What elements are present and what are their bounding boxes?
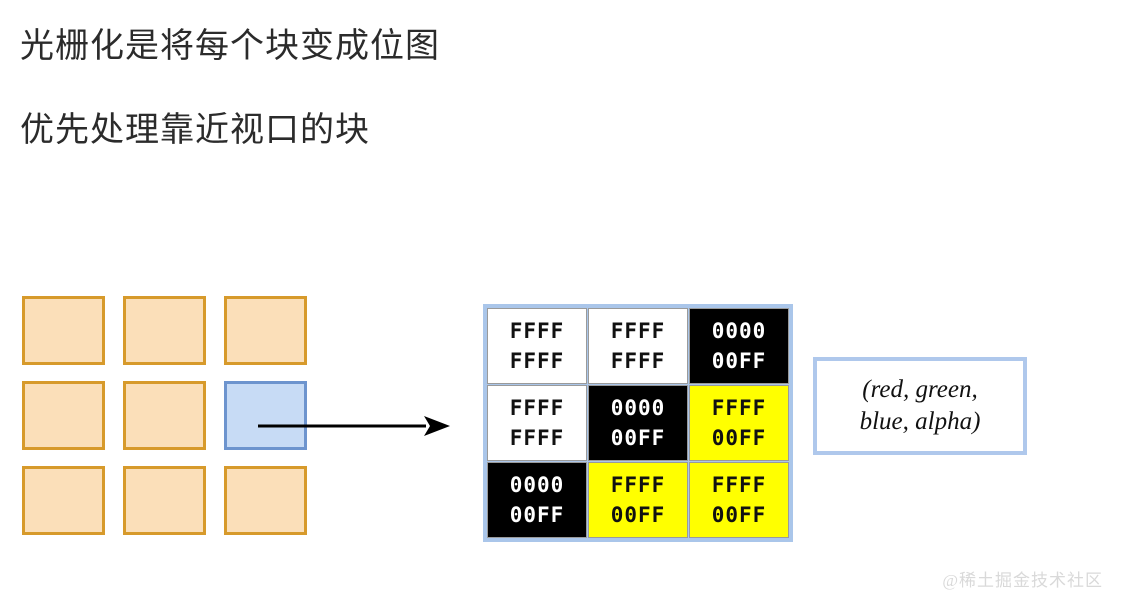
rgba-legend-text: (red, green, blue, alpha) <box>860 374 981 438</box>
pixel-value-top: FFFF <box>611 316 666 346</box>
pixel-cell-r2c2: 000000FF <box>588 385 688 461</box>
tile-r3c1[interactable] <box>22 466 105 535</box>
pixel-value-top: FFFF <box>712 393 767 423</box>
pixel-value-bottom: 00FF <box>510 500 565 530</box>
pixel-value-top: 0000 <box>611 393 666 423</box>
pixel-cell-r2c3: FFFF00FF <box>689 385 789 461</box>
tile-r3c2[interactable] <box>123 466 206 535</box>
page-title: 光栅化是将每个块变成位图 优先处理靠近视口的块 <box>20 28 720 148</box>
pixel-value-bottom: 00FF <box>712 423 767 453</box>
pixel-value-bottom: 00FF <box>712 500 767 530</box>
tile-r1c2[interactable] <box>123 296 206 365</box>
pixel-cell-r3c1: 000000FF <box>487 462 587 538</box>
title-line-1: 光栅化是将每个块变成位图 <box>20 28 720 64</box>
pixel-cell-r1c2: FFFFFFFF <box>588 308 688 384</box>
tile-r1c3[interactable] <box>224 296 307 365</box>
tile-r2c2[interactable] <box>123 381 206 450</box>
tile-r3c3[interactable] <box>224 466 307 535</box>
arrow-to-bitmap <box>258 412 450 440</box>
pixel-value-bottom: FFFF <box>510 346 565 376</box>
pixel-value-bottom: 00FF <box>611 423 666 453</box>
bitmap-pixel-grid: FFFFFFFFFFFFFFFF000000FFFFFFFFFF000000FF… <box>483 304 793 542</box>
pixel-value-top: FFFF <box>510 393 565 423</box>
pixel-cell-r3c3: FFFF00FF <box>689 462 789 538</box>
rgba-legend-box: (red, green, blue, alpha) <box>813 357 1027 455</box>
tile-r1c1[interactable] <box>22 296 105 365</box>
pixel-cell-r1c3: 000000FF <box>689 308 789 384</box>
pixel-value-top: FFFF <box>510 316 565 346</box>
pixel-cell-r1c1: FFFFFFFF <box>487 308 587 384</box>
tile-r2c1[interactable] <box>22 381 105 450</box>
pixel-value-bottom: 00FF <box>712 346 767 376</box>
title-line-2: 优先处理靠近视口的块 <box>20 112 720 148</box>
pixel-cell-r2c1: FFFFFFFF <box>487 385 587 461</box>
pixel-value-bottom: FFFF <box>510 423 565 453</box>
pixel-value-top: 0000 <box>510 470 565 500</box>
pixel-value-top: 0000 <box>712 316 767 346</box>
pixel-value-top: FFFF <box>712 470 767 500</box>
pixel-value-top: FFFF <box>611 470 666 500</box>
pixel-value-bottom: FFFF <box>611 346 666 376</box>
pixel-value-bottom: 00FF <box>611 500 666 530</box>
watermark: @稀土掘金技术社区 <box>942 566 1103 591</box>
pixel-cell-r3c2: FFFF00FF <box>588 462 688 538</box>
